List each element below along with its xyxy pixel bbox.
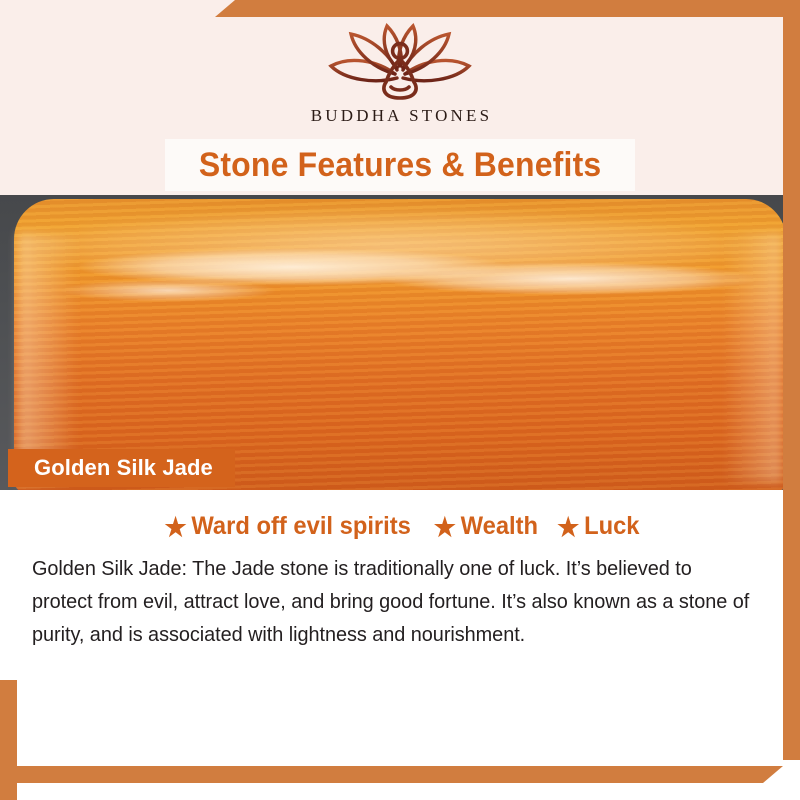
product-name-label: Golden Silk Jade (34, 455, 213, 481)
star-icon: ★ (165, 514, 187, 540)
star-icon: ★ (557, 514, 579, 540)
star-icon: ★ (434, 514, 456, 540)
stone-right-edge-light (722, 233, 782, 483)
brand-name: BUDDHA STONES (0, 106, 800, 126)
benefit-label: Ward off evil spirits (191, 512, 411, 541)
lotus-meditating-buddha-icon (315, 18, 485, 104)
product-photo (0, 193, 800, 490)
benefit-item: ★ Luck (557, 512, 639, 541)
benefits-list: ★ Ward off evil spirits ★ Wealth ★ Luck (0, 512, 800, 541)
frame-right-bar (783, 0, 800, 760)
product-name-badge: Golden Silk Jade (8, 449, 235, 487)
brand-logo: BUDDHA STONES (0, 18, 800, 126)
stone-left-edge-light (18, 233, 78, 483)
frame-top-bar (215, 0, 800, 17)
stone-benefits-poster: BUDDHA STONES Stone Features & Benefits … (0, 0, 800, 800)
frame-bottom-bar (0, 766, 783, 783)
benefit-label: Luck (584, 512, 639, 541)
description-panel: ★ Ward off evil spirits ★ Wealth ★ Luck … (0, 490, 800, 800)
page-title: Stone Features & Benefits (199, 146, 602, 185)
stone-highlight (40, 211, 740, 281)
benefit-label: Wealth (461, 512, 538, 541)
benefit-item: ★ Ward off evil spirits (165, 512, 411, 541)
description-text: Golden Silk Jade: The Jade stone is trad… (32, 552, 755, 652)
benefit-item: ★ Wealth (434, 512, 538, 541)
title-banner: Stone Features & Benefits (165, 139, 635, 191)
